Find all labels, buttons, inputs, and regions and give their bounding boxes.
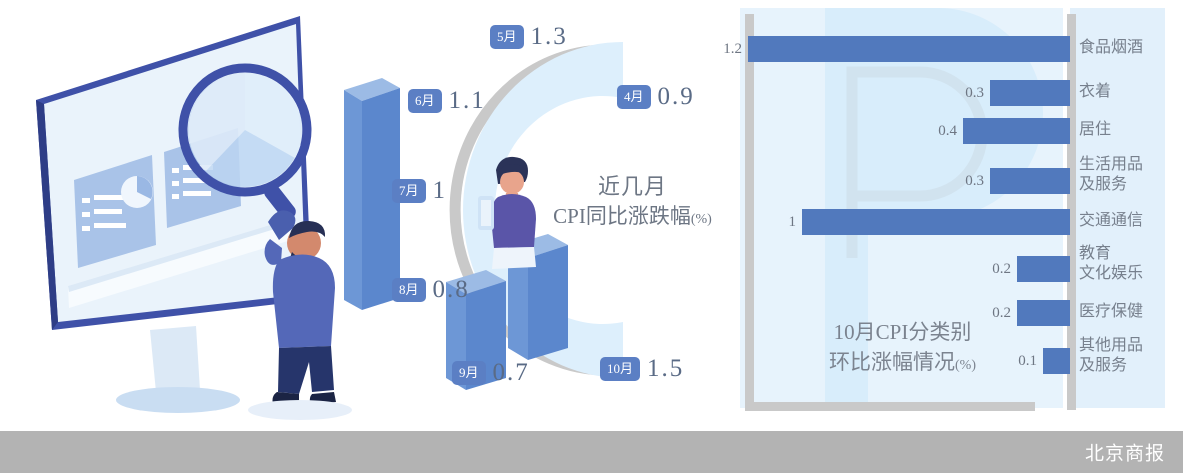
bar-food-tobacco-alcohol [748,36,1070,62]
bar-value-household: 0.3 [932,168,984,194]
right-caption-line2-wrap: 环比涨幅情况(%) [795,348,1010,378]
month-row-7: 7月 1 [392,178,447,203]
month-row-5: 5月 1.3 [490,24,568,49]
month-row-4: 4月 0.9 [617,84,695,109]
footer-bar: 北京商报 [0,431,1183,473]
axis-rail-bottom [745,402,1035,411]
month-value-5: 1.3 [531,24,568,49]
bar-value-education: 0.2 [959,256,1011,282]
right-caption-line2: 环比涨幅情况 [829,350,955,374]
category-label-food: 食品烟酒 [1079,38,1143,58]
bar-value-housing: 0.4 [905,118,957,144]
category-label-education: 教育 文化娱乐 [1079,244,1143,283]
month-badge-8: 8月 [392,278,426,302]
infographic-canvas: 5月 1.3 4月 0.9 6月 1.1 7月 1 8月 0.8 9月 0.7 … [0,0,1183,473]
right-caption-line1: 10月CPI分类别 [795,318,1010,348]
month-badge-10: 10月 [600,357,640,381]
bar-value-clothing: 0.3 [932,80,984,106]
month-row-9: 9月 0.7 [452,360,530,385]
bar-healthcare [1017,300,1070,326]
month-value-6: 1.1 [449,88,486,113]
source-label: 北京商报 [1085,439,1165,466]
month-badge-7: 7月 [392,179,426,203]
month-value-8: 0.8 [433,277,470,302]
illustration-man-with-magnifier [0,0,360,430]
bar-household-goods [990,168,1070,194]
month-value-4: 0.9 [658,84,695,109]
month-value-9: 0.7 [493,360,530,385]
bar-value-food: 1.2 [690,36,742,62]
bar-housing [963,118,1070,144]
month-badge-5: 5月 [490,25,524,49]
category-label-clothing: 衣着 [1079,82,1111,102]
month-badge-4: 4月 [617,85,651,109]
left-caption-line2: CPI同比涨跌幅 [553,204,691,228]
category-label-transport: 交通通信 [1079,211,1143,231]
month-value-10: 1.5 [647,356,684,381]
month-badge-6: 6月 [408,89,442,113]
right-caption-unit: (%) [955,358,976,373]
bar-clothing [990,80,1070,106]
category-label-housing: 居住 [1079,120,1111,140]
bar-education-culture [1017,256,1070,282]
category-label-household: 生活用品 及服务 [1079,155,1143,194]
month-badge-9: 9月 [452,361,486,385]
month-row-10: 10月 1.5 [600,356,684,381]
category-label-health: 医疗保健 [1079,302,1143,322]
bar-value-transport: 1 [744,209,796,235]
bar-transport-comm [802,209,1070,235]
right-chart-panel: 1.2 0.3 0.4 0.3 1 0.2 0.2 0.1 食品烟酒 衣着 居住… [700,0,1183,430]
category-label-other: 其他用品 及服务 [1079,336,1143,375]
bar-other-goods-services [1043,348,1070,374]
month-value-7: 1 [433,178,448,203]
month-row-6: 6月 1.1 [408,88,486,113]
month-row-8: 8月 0.8 [392,277,470,302]
right-chart-caption: 10月CPI分类别 环比涨幅情况(%) [795,318,1010,378]
